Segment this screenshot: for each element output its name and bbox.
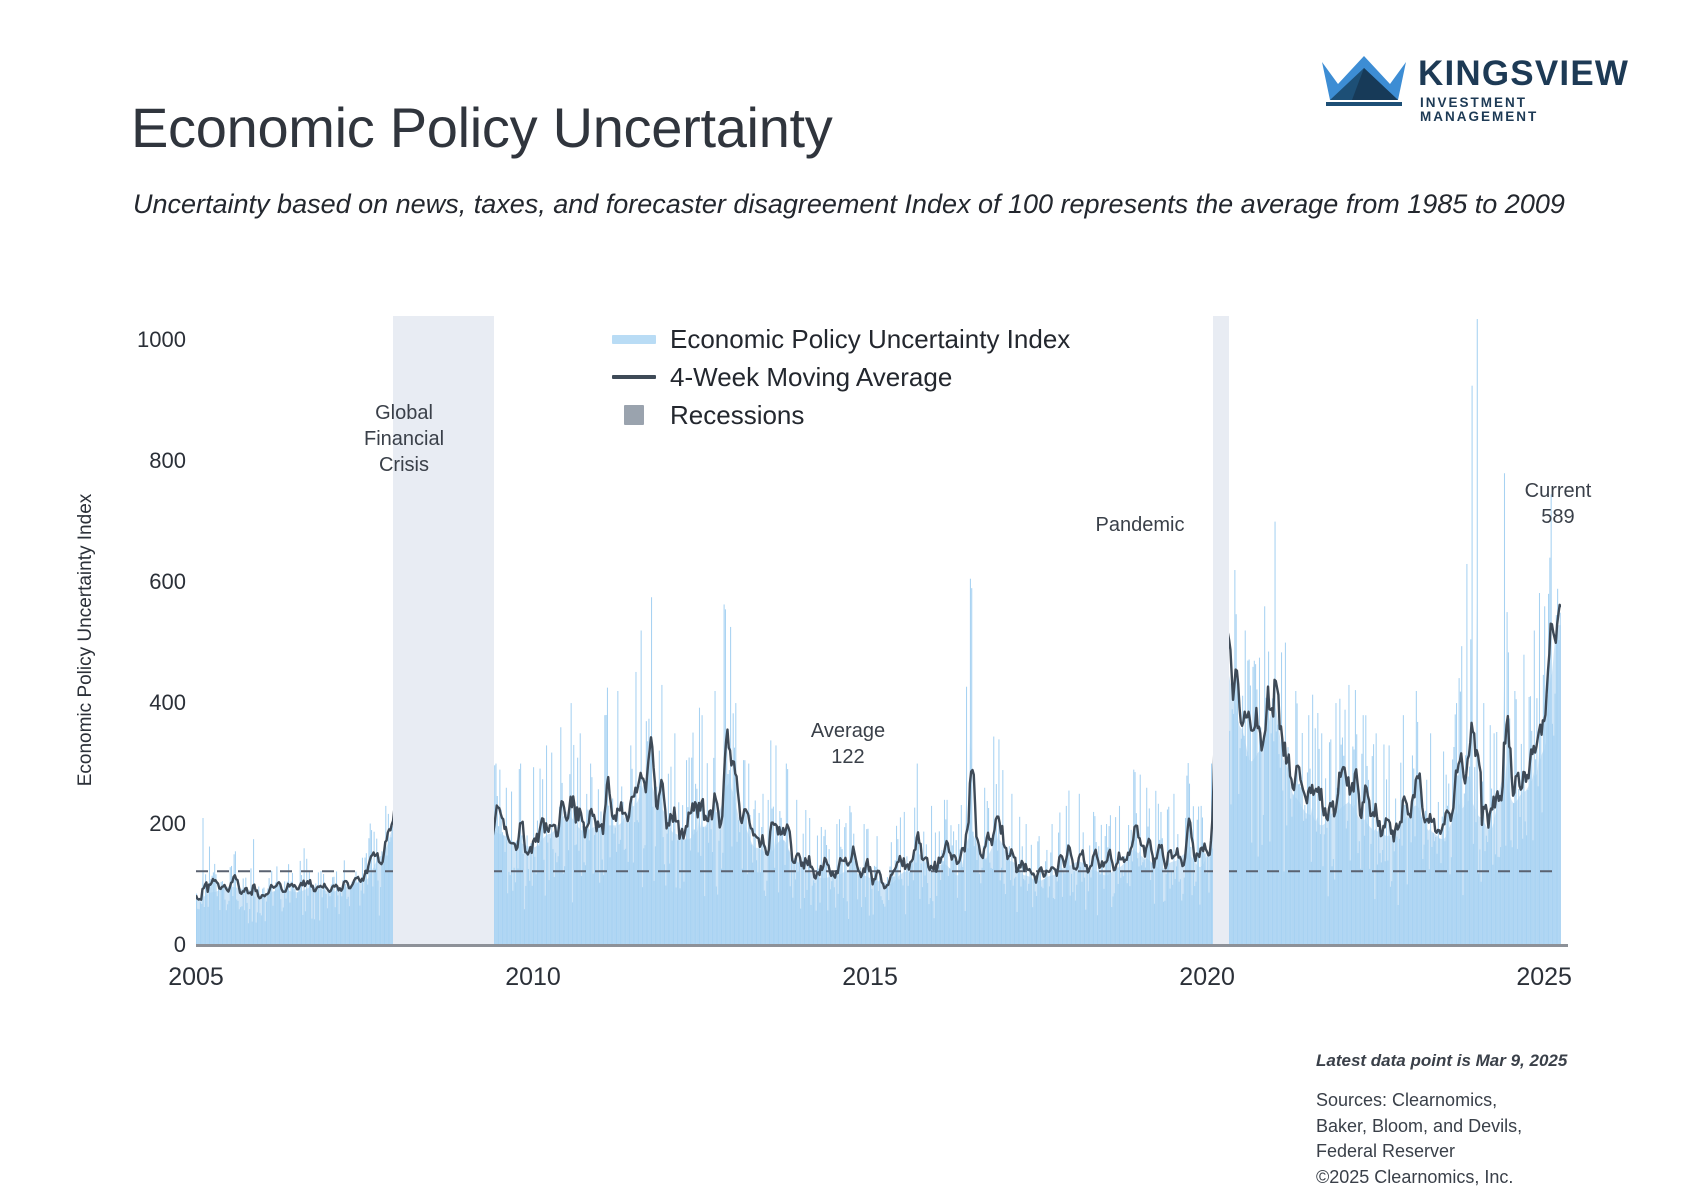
y-tick-600: 600 (149, 569, 186, 595)
y-tick-1000: 1000 (137, 327, 186, 353)
legend-label: 4-Week Moving Average (670, 362, 952, 393)
sources-note: Sources: Clearnomics, Baker, Bloom, and … (1316, 1088, 1522, 1190)
x-tick-2015: 2015 (842, 963, 898, 992)
chart-legend: Economic Policy Uncertainty Index4-Week … (612, 320, 1070, 434)
legend-label: Recessions (670, 400, 804, 431)
x-tick-2020: 2020 (1179, 963, 1235, 992)
annotation-global-financial-crisis: Global Financial Crisis (364, 400, 444, 478)
y-tick-200: 200 (149, 811, 186, 837)
x-tick-2010: 2010 (505, 963, 561, 992)
legend-item-1[interactable]: 4-Week Moving Average (612, 358, 1070, 396)
legend-item-0[interactable]: Economic Policy Uncertainty Index (612, 320, 1070, 358)
legend-label: Economic Policy Uncertainty Index (670, 324, 1070, 355)
legend-swatch-line-icon (612, 375, 656, 379)
legend-item-2[interactable]: Recessions (612, 396, 1070, 434)
legend-swatch-box-icon (624, 405, 644, 425)
latest-data-point-note: Latest data point is Mar 9, 2025 (1316, 1051, 1567, 1071)
x-tick-2025: 2025 (1516, 963, 1572, 992)
x-tick-2005: 2005 (168, 963, 224, 992)
recession-band (1213, 316, 1230, 945)
y-tick-400: 400 (149, 690, 186, 716)
y-axis-title: Economic Policy Uncertainty Index (75, 494, 97, 787)
annotation-current-589: Current 589 (1525, 478, 1592, 530)
legend-swatch-band-icon (612, 335, 656, 344)
y-tick-0: 0 (174, 932, 186, 958)
annotation-pandemic: Pandemic (1096, 512, 1185, 538)
x-axis-line (196, 944, 1568, 947)
y-tick-800: 800 (149, 448, 186, 474)
annotation-average-122: Average 122 (811, 718, 885, 770)
epu-chart: 02004006008001000 Economic Policy Uncert… (0, 0, 1704, 1200)
